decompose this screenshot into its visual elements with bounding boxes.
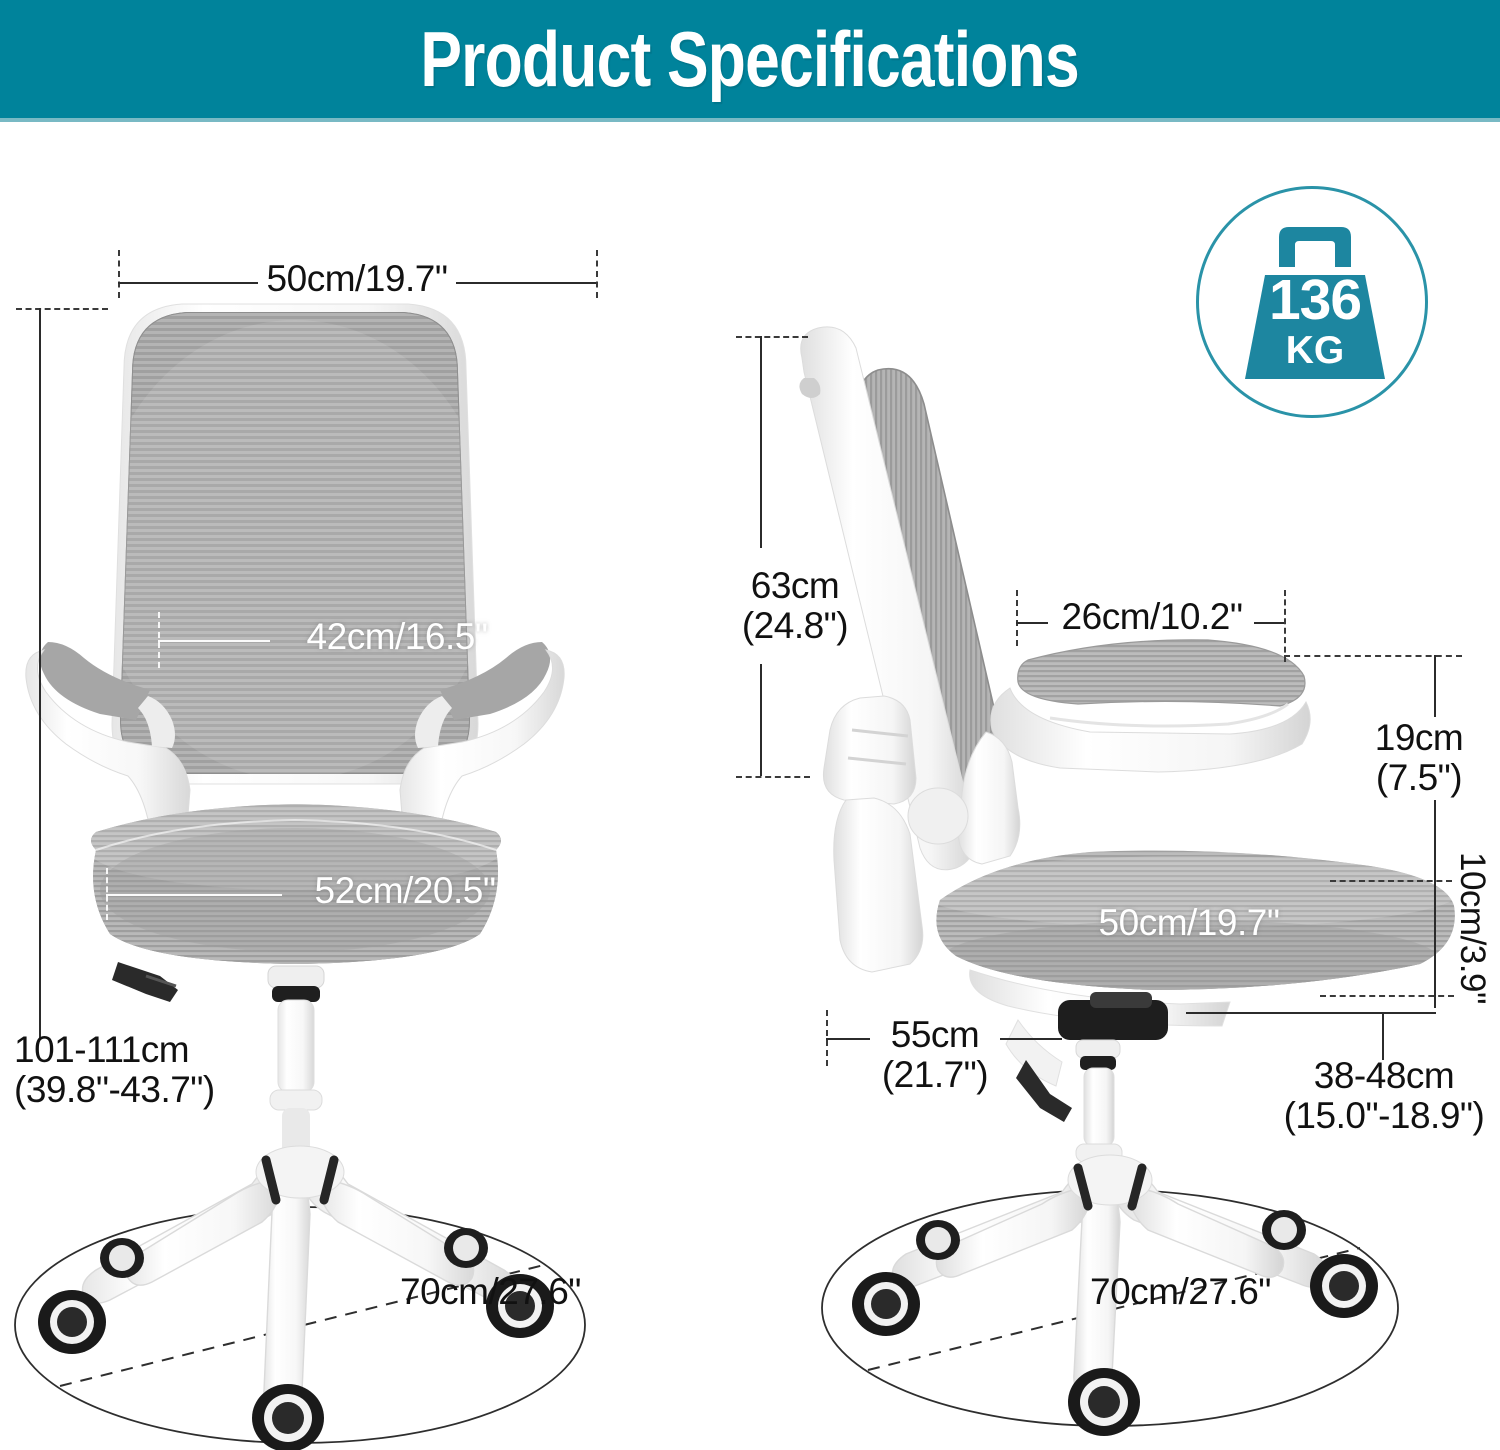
side-base-diameter-label: 70cm/27.6" [1090, 1272, 1271, 1312]
side-seat-height-line [1382, 1012, 1384, 1060]
front-height-vertical-line [39, 308, 41, 1038]
side-seat-height-label: 38-48cm (15.0"-18.9") [1268, 1056, 1500, 1135]
front-backrest-height-label: 42cm/16.5" [268, 617, 526, 657]
side-armrest-length-label: 26cm/10.2" [1044, 597, 1260, 637]
front-seat-width-label: 52cm/20.5" [280, 871, 530, 911]
front-overall-height-label: 101-111cm (39.8"-43.7") [14, 1030, 215, 1109]
front-seat-width-line-left [106, 894, 282, 896]
side-armrest-tick-right [1284, 590, 1286, 662]
side-seat-height-cm: 38-48cm [1314, 1055, 1454, 1096]
front-backrest-height-line-left [158, 640, 270, 642]
front-width-line-right [456, 282, 596, 284]
front-backrest-height-tick-left [158, 612, 160, 668]
side-backrest-height-label: 63cm (24.8") [700, 566, 890, 645]
front-width-tick-right [596, 250, 598, 298]
side-base-depth-label: 55cm (21.7") [862, 1015, 1008, 1094]
page-title: Product Specifications [421, 20, 1080, 98]
side-armrest-tick-left [1016, 590, 1018, 646]
front-seat-width-tick-right [632, 868, 634, 920]
front-base-diameter-label: 70cm/27.6" [400, 1272, 581, 1312]
side-backrest-height-cm: 63cm [751, 565, 839, 606]
header-underline [0, 118, 1500, 122]
front-width-tick-left [118, 250, 120, 298]
side-armrest-height-inch: (7.5") [1344, 758, 1494, 798]
side-backrest-bottom-dash [736, 776, 810, 778]
side-seat-height-inch: (15.0"-18.9") [1268, 1096, 1500, 1136]
side-base-depth-cm: 55cm [891, 1014, 979, 1055]
side-seat-depth-label: 50cm/19.7" [1058, 903, 1320, 943]
product-specification-sheet: Product Specifications 136 KG [0, 0, 1500, 1450]
side-backrest-height-inch: (24.8") [700, 606, 890, 646]
front-view-chair-illustration [0, 250, 730, 1450]
side-armrest-height-line-top [1434, 655, 1436, 717]
front-width-line-left [118, 282, 258, 284]
front-backrest-height-line-right [524, 640, 614, 642]
side-seat-thickness-line [1434, 868, 1436, 1008]
front-backrest-width-label: 50cm/19.7" [256, 259, 458, 299]
side-backrest-height-line-top [760, 336, 762, 548]
front-seat-width-line-right [528, 894, 632, 896]
side-backrest-top-dash [736, 336, 808, 338]
side-backrest-height-line-bottom [760, 664, 762, 776]
front-seat-width-tick-left [106, 868, 108, 920]
header-banner: Product Specifications [0, 0, 1500, 118]
side-seat-height-base-line [1186, 1012, 1436, 1014]
side-armrest-height-cm: 19cm [1375, 717, 1463, 758]
front-overall-height-cm: 101-111cm [14, 1029, 189, 1070]
front-height-top-dash [16, 308, 108, 310]
side-seat-thickness-label: 10cm/3.9" [1452, 852, 1492, 1004]
front-overall-height-inch: (39.8"-43.7") [14, 1070, 215, 1110]
side-base-depth-line-right [1000, 1038, 1062, 1040]
side-base-depth-inch: (21.7") [862, 1055, 1008, 1095]
side-armrest-height-line-bottom [1434, 800, 1436, 868]
side-armrest-height-label: 19cm (7.5") [1344, 718, 1494, 797]
